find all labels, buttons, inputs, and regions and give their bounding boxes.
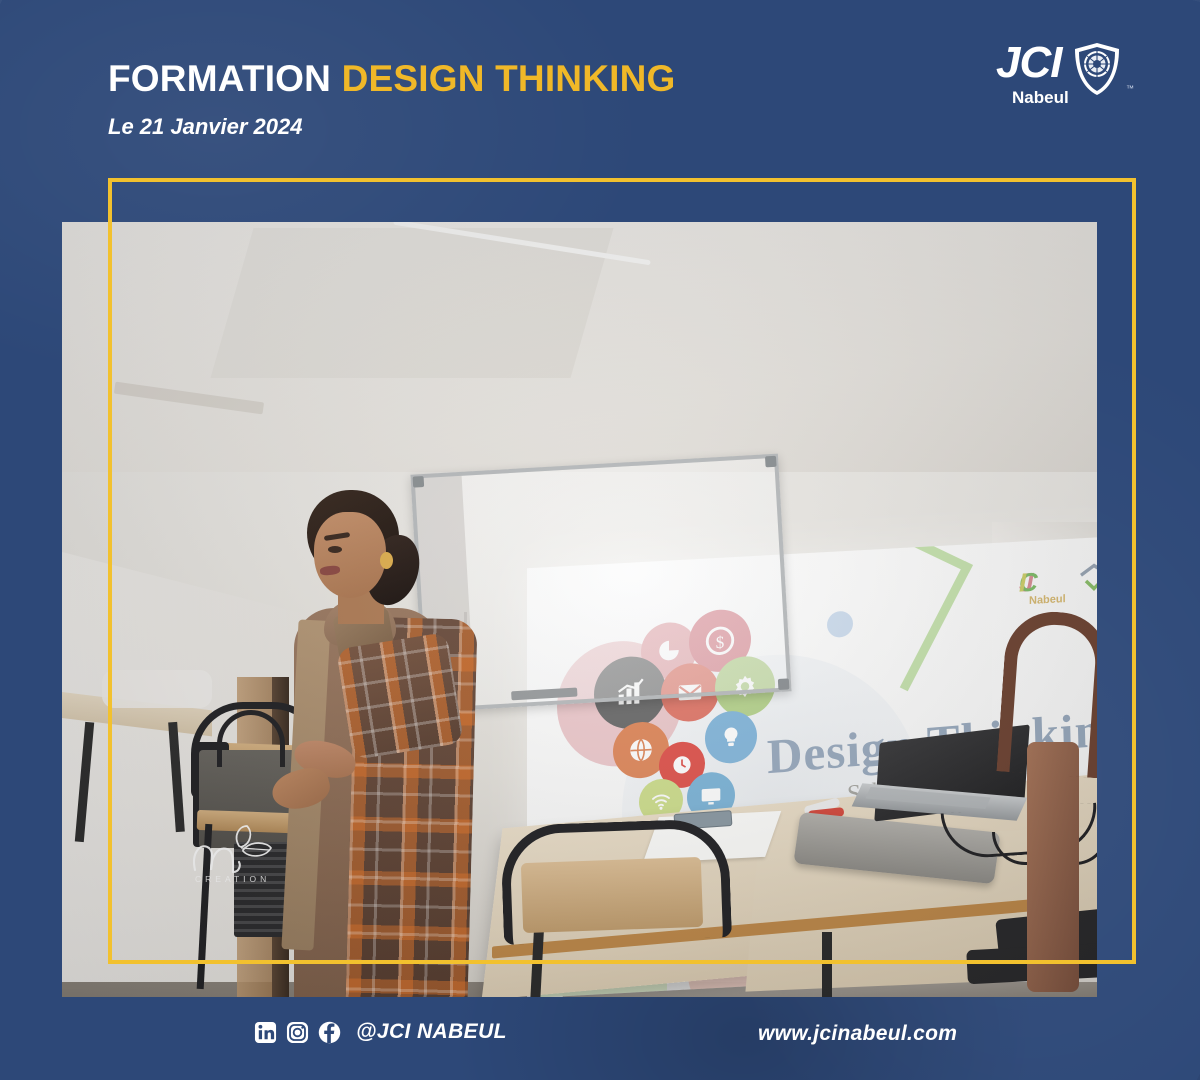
ceiling-recess: [210, 228, 613, 378]
jci-shield-icon: [1074, 42, 1120, 96]
event-photo: $: [62, 222, 1097, 997]
website-url[interactable]: www.jcinabeul.com: [758, 1022, 957, 1046]
footer-bar: @JCI NABEUL www.jcinabeul.com: [0, 1012, 1200, 1058]
slide-jci-shield-icon: [1077, 561, 1097, 595]
presenter-face: [314, 512, 386, 598]
whiteboard-corner-br: [778, 678, 790, 690]
poster-canvas: FORMATION DESIGN THINKING Le 21 Janvier …: [0, 0, 1200, 1080]
presenter-coat-sleeve: [336, 632, 464, 760]
facebook-icon[interactable]: [318, 1021, 341, 1044]
linkedin-icon[interactable]: [254, 1021, 277, 1044]
photographer-watermark: CREATION: [177, 822, 297, 894]
jci-logo: JCI Nabeul ™: [990, 40, 1140, 116]
social-links: @JCI NABEUL: [254, 1020, 507, 1044]
m-creation-logo-icon: [177, 822, 297, 880]
presenter-eye: [328, 546, 342, 553]
trademark-mark: ™: [1126, 84, 1134, 93]
whiteboard-corner-tr: [765, 456, 777, 468]
page-title: FORMATION DESIGN THINKING: [108, 58, 676, 100]
social-handle: @JCI NABEUL: [356, 1020, 507, 1044]
presenter-earring: [380, 552, 393, 569]
chair-back-panel: [521, 857, 703, 933]
presenter: [232, 490, 532, 997]
lightbulb-icon: [705, 710, 757, 765]
watermark-label: CREATION: [195, 874, 270, 884]
event-date: Le 21 Janvier 2024: [108, 114, 302, 140]
table-leg-two: [822, 932, 832, 997]
whiteboard-corner-tl: [413, 476, 425, 488]
slide-jci-chapter: Nabeul: [1029, 593, 1066, 607]
bag-strap: [996, 609, 1097, 779]
title-main: FORMATION: [108, 58, 331, 99]
jci-wordmark: JCI: [996, 40, 1061, 86]
title-accent: DESIGN THINKING: [342, 58, 676, 99]
jci-chapter-label: Nabeul: [1012, 88, 1069, 108]
slide-jci-letter-i: I: [1019, 567, 1025, 598]
instagram-icon[interactable]: [286, 1021, 309, 1044]
slide-jci-logo: JCI Nabeul: [1019, 562, 1097, 619]
brown-leather-bag: [1027, 742, 1079, 992]
